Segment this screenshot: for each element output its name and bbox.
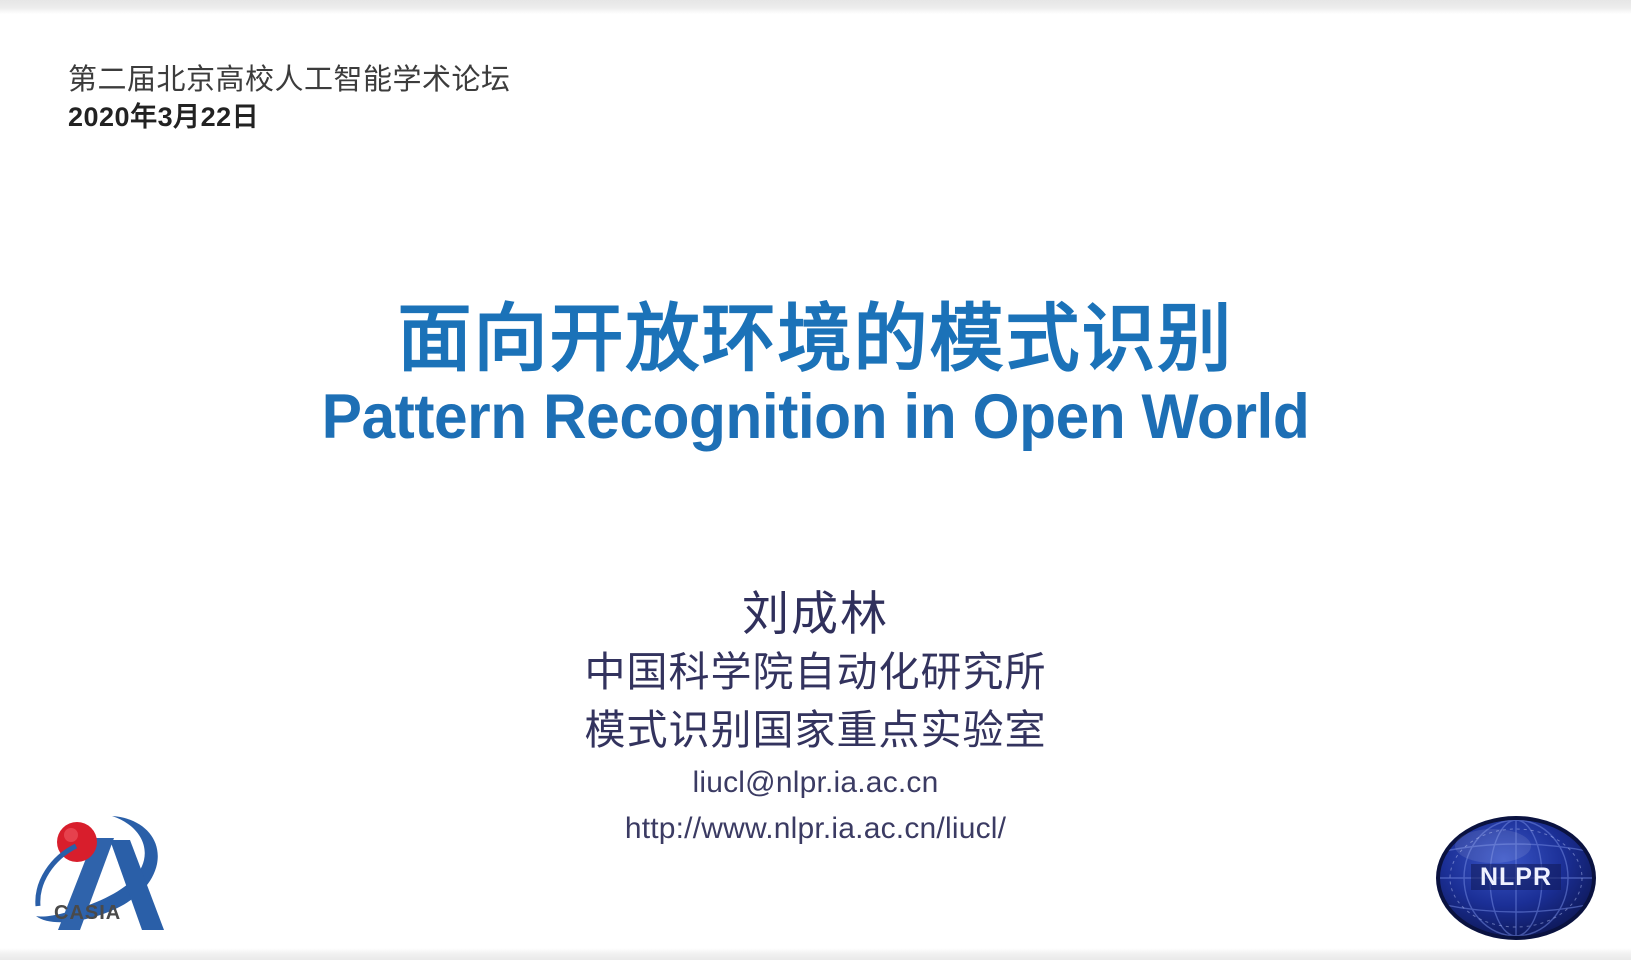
presentation-slide: 第二届北京高校人工智能学术论坛 2020年3月22日 面向开放环境的模式识别 P… bbox=[0, 0, 1631, 960]
author-homepage-url: http://www.nlpr.ia.ac.cn/liucl/ bbox=[0, 809, 1631, 849]
author-affiliation-institute: 中国科学院自动化研究所 bbox=[0, 646, 1631, 699]
title-block: 面向开放环境的模式识别 Pattern Recognition in Open … bbox=[0, 300, 1631, 453]
nlpr-logo-icon: NLPR bbox=[1423, 802, 1609, 950]
casia-wordmark: CASIA bbox=[54, 902, 121, 924]
title-chinese: 面向开放环境的模式识别 bbox=[0, 300, 1631, 378]
author-name: 刘成林 bbox=[0, 585, 1631, 642]
nlpr-logo: NLPR bbox=[1423, 802, 1609, 950]
casia-logo: CASIA bbox=[24, 802, 172, 942]
casia-logo-icon: CASIA bbox=[24, 802, 172, 942]
author-email: liucl@nlpr.ia.ac.cn bbox=[0, 763, 1631, 803]
conference-name: 第二届北京高校人工智能学术论坛 bbox=[68, 62, 511, 100]
slide-header: 第二届北京高校人工智能学术论坛 2020年3月22日 bbox=[68, 62, 511, 135]
author-block: 刘成林 中国科学院自动化研究所 模式识别国家重点实验室 liucl@nlpr.i… bbox=[0, 585, 1631, 849]
slide-bottom-edge-band bbox=[0, 948, 1631, 960]
author-affiliation-lab: 模式识别国家重点实验室 bbox=[0, 704, 1631, 757]
title-english: Pattern Recognition in Open World bbox=[33, 382, 1599, 453]
slide-top-edge-band bbox=[0, 0, 1631, 14]
conference-date: 2020年3月22日 bbox=[68, 100, 511, 135]
nlpr-wordmark: NLPR bbox=[1480, 863, 1552, 891]
